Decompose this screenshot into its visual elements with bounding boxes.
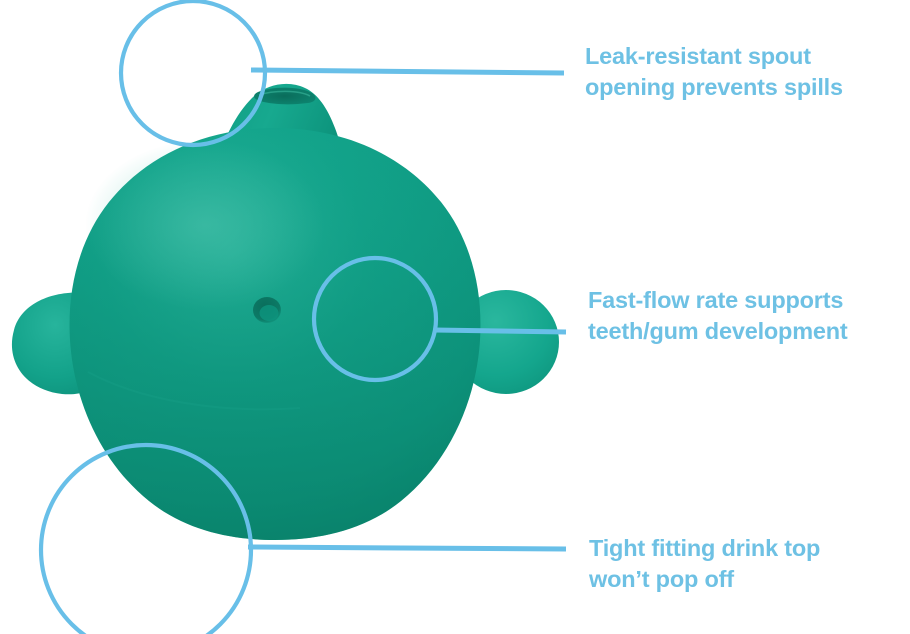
callout-text-spout: Leak-resistant spout opening prevents sp… bbox=[585, 41, 905, 103]
vent-hole bbox=[253, 297, 281, 323]
lid-body bbox=[70, 128, 481, 540]
leader-line-flow-rate bbox=[434, 330, 566, 332]
leader-line-spout bbox=[251, 70, 564, 73]
product-callout-figure: Leak-resistant spout opening prevents sp… bbox=[0, 0, 910, 634]
ring-spout bbox=[121, 1, 265, 145]
callout-text-tight-fit: Tight fitting drink top won’t pop off bbox=[589, 533, 909, 595]
leader-line-tight-fit bbox=[248, 547, 566, 549]
callout-text-flow-rate: Fast-flow rate supports teeth/gum develo… bbox=[588, 285, 908, 347]
